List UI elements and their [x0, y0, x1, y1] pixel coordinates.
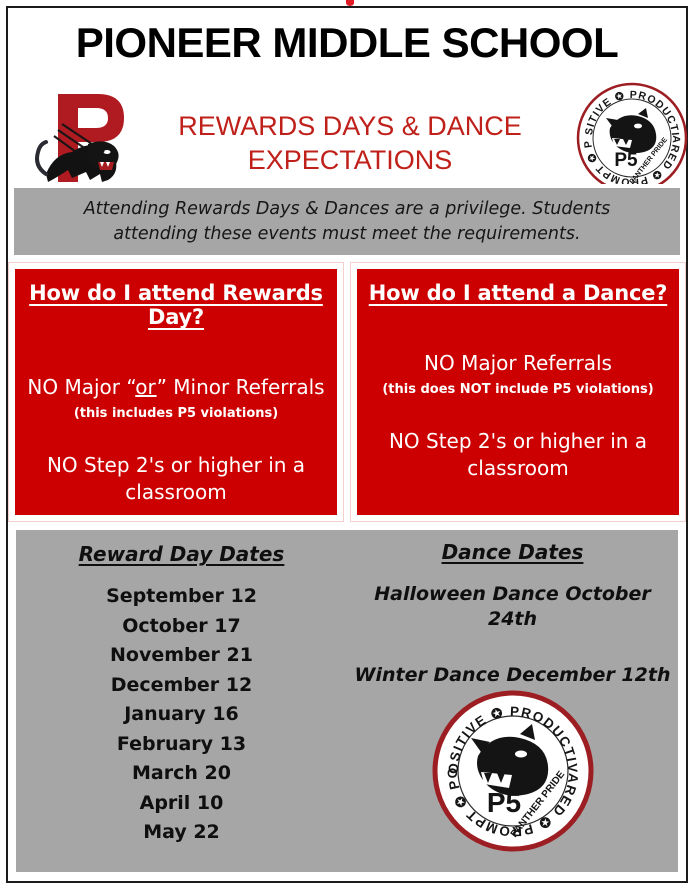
svg-text:P5: P5	[614, 150, 638, 171]
subtitle: REWARDS DAYS & DANCE EXPECTATIONS	[140, 110, 560, 178]
rewards-rule1-suffix: ” Minor Referrals	[157, 375, 325, 399]
dance-dates-heading: Dance Dates	[442, 540, 584, 564]
page-title: PIONEER MIDDLE SCHOOL	[10, 22, 684, 64]
list-item: May 22	[143, 818, 220, 847]
svg-text:P5: P5	[486, 787, 520, 818]
rewards-day-rule-1: NO Major “or” Minor Referrals	[27, 375, 324, 399]
list-item: April 10	[140, 789, 224, 818]
rewards-day-rule-1-note: (this includes P5 violations)	[74, 406, 278, 422]
quote-line-1: Attending Rewards Days & Dances are a pr…	[47, 197, 647, 222]
rewards-day-rule-2: NO Step 2's or higher in a classroom	[31, 452, 321, 506]
list-item: March 20	[132, 759, 231, 788]
p5-panther-pride-seal-large-icon: POSITIVE ✪ PRODUCTIVE PREPARED ✪ PROMPT …	[432, 690, 594, 852]
flyer-page: PIONEER MIDDLE SCHOOL REWARDS DAYS & DAN…	[0, 0, 694, 889]
dance-card: How do I attend a Dance? NO Major Referr…	[350, 262, 686, 522]
pioneer-panther-p-logo-icon	[28, 82, 132, 194]
quote-line-2: attending these events must meet the req…	[47, 222, 647, 247]
list-item: February 13	[117, 730, 246, 759]
dance-dates-column: Dance Dates Halloween Dance October 24th…	[347, 530, 678, 872]
reward-dates-list: September 12 October 17 November 21 Dece…	[106, 582, 257, 847]
requirements-row: How do I attend Rewards Day? NO Major “o…	[8, 262, 686, 522]
dates-panel: Reward Day Dates September 12 October 17…	[10, 524, 684, 878]
rewards-day-box: How do I attend Rewards Day? NO Major “o…	[15, 269, 337, 515]
dance-rule-2: NO Step 2's or higher in a classroom	[373, 428, 663, 482]
list-item: January 16	[124, 700, 239, 729]
list-item: September 12	[106, 582, 257, 611]
rewards-rule1-prefix: NO Major “	[27, 375, 135, 399]
list-item: December 12	[111, 671, 253, 700]
privilege-statement-box: Attending Rewards Days & Dances are a pr…	[14, 188, 680, 255]
rewards-rule1-or: or	[135, 375, 156, 399]
list-item: Halloween Dance October 24th	[347, 582, 678, 631]
dance-rule-1-note: (this does NOT include P5 violations)	[382, 382, 653, 398]
red-dot-artifact	[346, 0, 354, 6]
reward-dates-heading: Reward Day Dates	[79, 542, 285, 566]
dance-rule-1: NO Major Referrals	[424, 351, 612, 375]
privilege-statement-text: Attending Rewards Days & Dances are a pr…	[47, 197, 647, 247]
reward-dates-column: Reward Day Dates September 12 October 17…	[16, 530, 347, 872]
dates-panel-box: Reward Day Dates September 12 October 17…	[16, 530, 678, 872]
dance-box: How do I attend a Dance? NO Major Referr…	[357, 269, 679, 515]
list-item: October 17	[122, 612, 240, 641]
header-section: PIONEER MIDDLE SCHOOL REWARDS DAYS & DAN…	[10, 10, 684, 182]
list-item: Winter Dance December 12th	[355, 663, 671, 688]
rewards-day-heading: How do I attend Rewards Day?	[25, 281, 327, 329]
subtitle-line-2: EXPECTATIONS	[140, 144, 560, 178]
list-item: November 21	[110, 641, 253, 670]
rewards-day-card: How do I attend Rewards Day? NO Major “o…	[8, 262, 344, 522]
dance-heading: How do I attend a Dance?	[369, 281, 668, 305]
p5-panther-pride-seal-icon: POSITIVE ✪ PRODUCTIVE PREPARED ✪ PROMPT …	[576, 82, 688, 194]
subtitle-line-1: REWARDS DAYS & DANCE	[140, 110, 560, 144]
privilege-statement-banner: Attending Rewards Days & Dances are a pr…	[10, 184, 684, 259]
